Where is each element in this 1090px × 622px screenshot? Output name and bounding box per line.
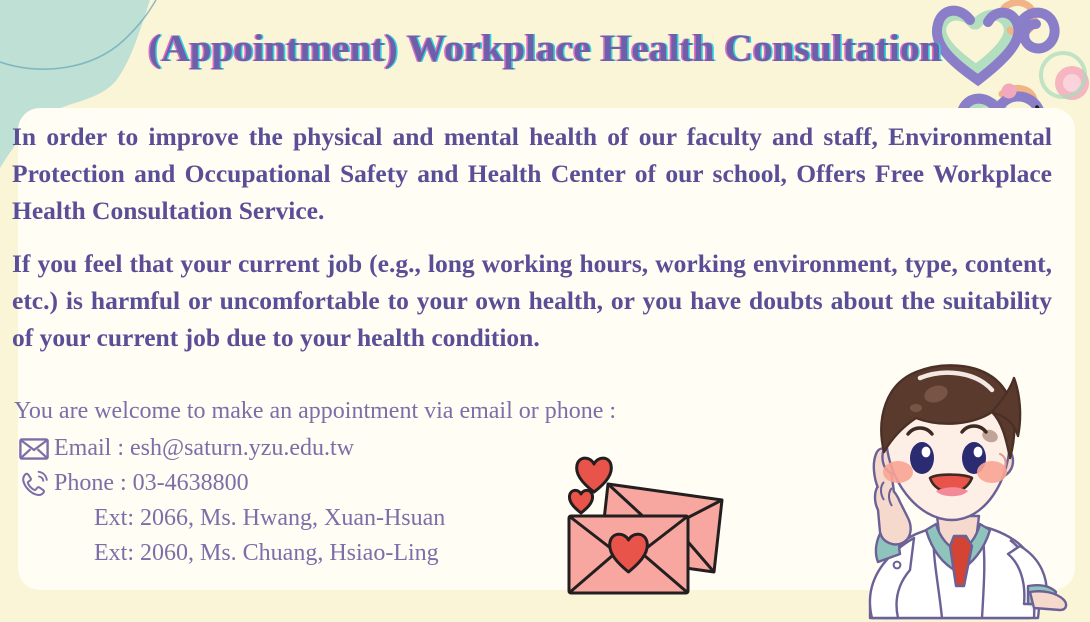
page-title: (Appointment) Workplace Health Consultat… (0, 26, 1090, 71)
contact-email-line[interactable]: Email : esh@saturn.yzu.edu.tw (14, 431, 616, 466)
poster-root: (Appointment) Workplace Health Consultat… (0, 0, 1090, 622)
phone-text[interactable]: Phone : 03-4638800 (54, 466, 249, 501)
ext-1-text: Ext: 2066, Ms. Hwang, Xuan-Hsuan (94, 501, 445, 536)
contact-ext-line-2: Ext: 2060, Ms. Chuang, Hsiao-Ling (14, 536, 616, 571)
contact-intro-line: You are welcome to make an appointment v… (14, 394, 616, 429)
paragraph-1: In order to improve the physical and men… (12, 118, 1052, 229)
contact-ext-line-1: Ext: 2066, Ms. Hwang, Xuan-Hsuan (14, 501, 616, 536)
contact-intro-text: You are welcome to make an appointment v… (14, 394, 616, 429)
contact-block: You are welcome to make an appointment v… (14, 394, 616, 571)
contact-phone-line[interactable]: Phone : 03-4638800 (14, 466, 616, 501)
body-text-block: In order to improve the physical and men… (12, 118, 1052, 372)
envelope-icon (14, 438, 54, 460)
paragraph-2: If you feel that your current job (e.g.,… (12, 245, 1052, 356)
ext-2-text: Ext: 2060, Ms. Chuang, Hsiao-Ling (94, 536, 439, 571)
phone-icon (14, 470, 54, 498)
cartoon-doctor-illustration (824, 360, 1090, 622)
email-text[interactable]: Email : esh@saturn.yzu.edu.tw (54, 431, 354, 466)
